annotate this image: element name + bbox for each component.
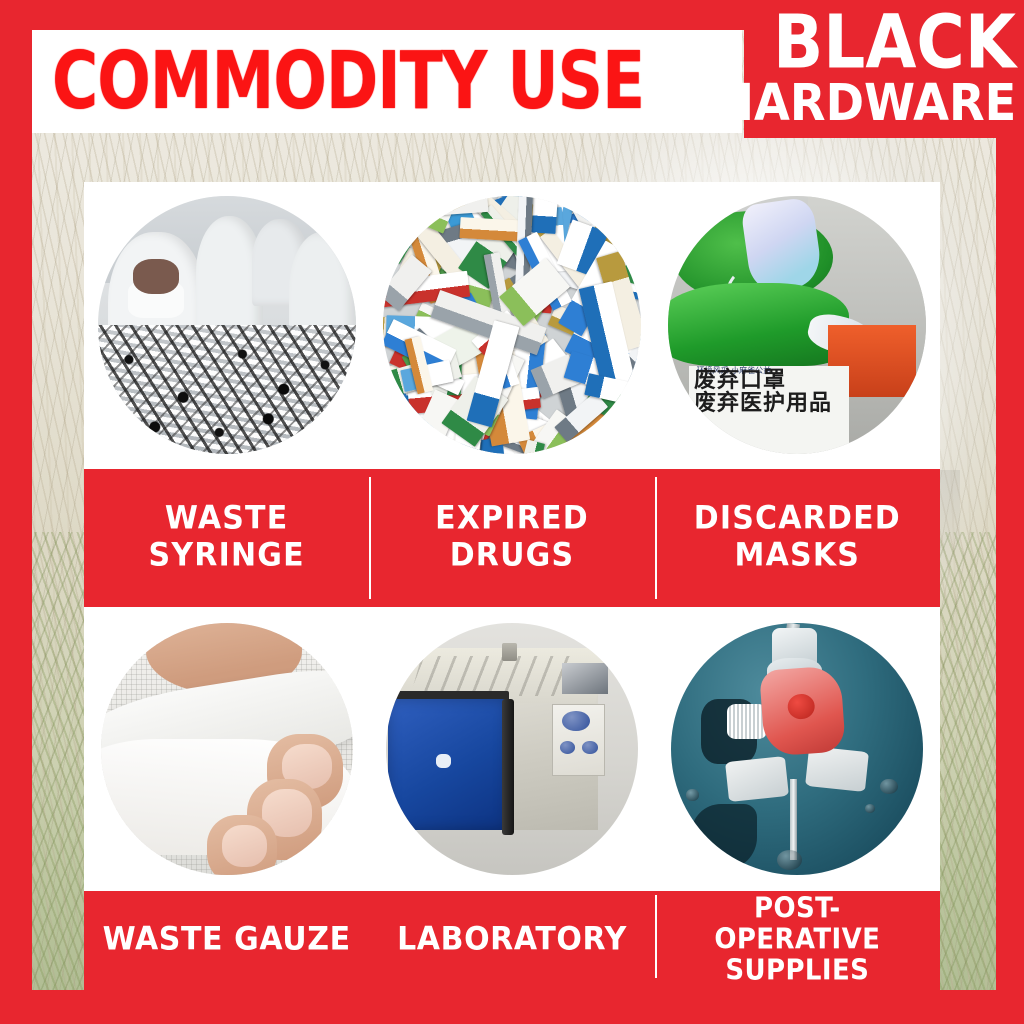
label-waste-gauze[interactable]: WASTE GAUZE — [84, 891, 369, 990]
mask-sign-line-1: 废弃口罩 — [694, 368, 786, 393]
content-panel: 环境风采 小麻雀公益 废弃口罩 废弃医护用品 WASTE SYRINGE EXP… — [84, 182, 940, 990]
waste-syringe-photo — [98, 196, 356, 454]
brand-logo: BLACK HARDWARE — [744, 0, 1024, 138]
expired-drugs-photo — [383, 196, 641, 454]
image-row-1: 环境风采 小麻雀公益 废弃口罩 废弃医护用品 — [84, 182, 940, 467]
label-bar-row-1: WASTE SYRINGE EXPIRED DRUGS DISCARDED MA… — [84, 469, 940, 607]
frame-border-bottom — [0, 990, 1024, 1024]
label-waste-gauze-line-1: WASTE GAUZE — [103, 921, 351, 961]
laboratory-equipment-photo — [386, 623, 638, 875]
image-row-2 — [84, 610, 940, 888]
label-waste-syringe-line-2: SYRINGE — [149, 537, 305, 577]
label-post-operative-supplies[interactable]: POST- OPERATIVE SUPPLIES — [655, 891, 940, 990]
label-laboratory-line-1: LABORATORY — [397, 921, 627, 961]
brand-logo-line-2: HARDWARE — [715, 77, 1016, 127]
label-post-operative-line-3: SUPPLIES — [725, 955, 869, 988]
frame-border-right — [996, 0, 1024, 1024]
page-title: COMMODITY USE — [52, 42, 644, 121]
grid-cell-expired-drugs[interactable] — [369, 182, 654, 467]
grid-cell-post-operative-supplies[interactable] — [655, 610, 940, 888]
label-expired-drugs-line-2: DRUGS — [450, 537, 575, 577]
label-discarded-masks[interactable]: DISCARDED MASKS — [655, 469, 940, 607]
label-expired-drugs[interactable]: EXPIRED DRUGS — [369, 469, 654, 607]
grid-cell-waste-syringe[interactable] — [84, 182, 369, 467]
grid-cell-discarded-masks[interactable]: 环境风采 小麻雀公益 废弃口罩 废弃医护用品 — [655, 182, 940, 467]
label-expired-drugs-line-1: EXPIRED — [435, 500, 589, 540]
post-operative-supplies-photo — [671, 623, 923, 875]
label-discarded-masks-line-1: DISCARDED — [694, 500, 901, 540]
grid-cell-laboratory[interactable] — [369, 610, 654, 888]
mask-sign-line-2: 废弃医护用品 — [694, 391, 832, 416]
label-discarded-masks-line-2: MASKS — [735, 537, 861, 577]
label-laboratory[interactable]: LABORATORY — [369, 891, 654, 990]
frame-border-left — [0, 0, 32, 1024]
waste-gauze-photo — [101, 623, 353, 875]
brand-logo-line-1: BLACK — [773, 9, 1016, 77]
label-waste-syringe[interactable]: WASTE SYRINGE — [84, 469, 369, 607]
label-post-operative-line-1: POST- — [754, 893, 841, 926]
discarded-masks-photo: 环境风采 小麻雀公益 废弃口罩 废弃医护用品 — [668, 196, 926, 454]
label-waste-syringe-line-1: WASTE — [165, 500, 289, 540]
grid-cell-waste-gauze[interactable] — [84, 610, 369, 888]
label-bar-row-2: WASTE GAUZE LABORATORY POST- OPERATIVE S… — [84, 891, 940, 990]
title-banner: COMMODITY USE — [32, 30, 742, 133]
label-post-operative-line-2: OPERATIVE — [714, 924, 880, 957]
